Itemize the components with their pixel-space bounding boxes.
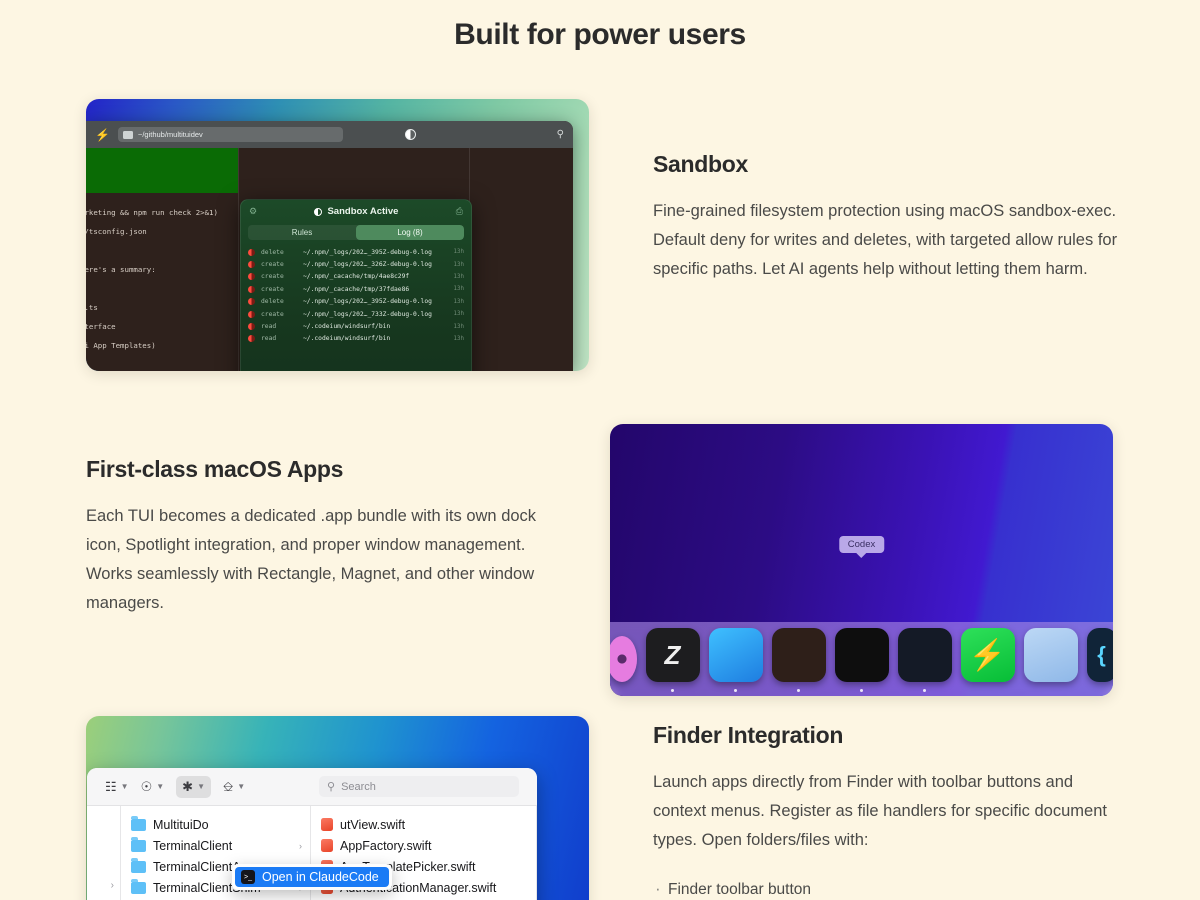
running-indicator-dot <box>797 689 800 692</box>
log-action: read <box>261 335 303 342</box>
folder-icon <box>123 131 133 139</box>
log-time: 13h <box>454 249 464 255</box>
finder-folder-row[interactable]: TerminalClient› <box>121 835 310 856</box>
file-label: AppFactory.swift <box>340 839 431 853</box>
dock-icon-row: Z⚡{ <box>610 620 1113 682</box>
access-denied-icon <box>248 273 255 280</box>
tab-log[interactable]: Log (8) <box>356 225 464 240</box>
context-menu: >_ Open in ClaudeCode <box>232 864 392 890</box>
search-input[interactable]: ⚲ Search <box>319 776 519 797</box>
bullet-item: Finder toolbar button <box>653 877 1123 900</box>
access-denied-icon <box>248 323 255 330</box>
swift-file-icon <box>321 839 333 852</box>
access-denied-icon <box>248 311 255 318</box>
asterisk-icon[interactable]: ✱ ▼ <box>176 776 211 798</box>
ellipsis-circle-icon[interactable]: ☉ ▼ <box>141 779 165 795</box>
finder-file-row[interactable]: AppFactory.swift <box>311 835 536 856</box>
terminal-body: arketing && npm run check 2>&1) ./tsconf… <box>86 148 573 371</box>
sandbox-title-label: Sandbox Active <box>327 206 398 217</box>
sandbox-log-row: create~/.npm/_logs/202…_733Z-debug-0.log… <box>248 308 464 320</box>
finder-file-row[interactable]: utView.swift <box>311 814 536 835</box>
terminal-window: ⚡ ~/github/multituidev ⚲ arketing && npm… <box>86 121 573 371</box>
sandbox-log-row: create~/.npm/_cacache/tmp/4ae8c29f13h <box>248 271 464 283</box>
terminal-square-icon[interactable]: ⎒ ▼ <box>223 779 245 795</box>
terminal-square-glyph: ⎒ <box>223 779 233 795</box>
search-icon: ⚲ <box>327 780 335 793</box>
bolt-icon: ⚡ <box>95 129 110 141</box>
log-action: create <box>261 286 303 293</box>
menu-item-label: Open in ClaudeCode <box>262 870 379 884</box>
finder-screenshot: ☷ ▼ ☉ ▼ ✱ ▼ ⎒ ▼ <box>86 716 589 900</box>
log-action: create <box>261 311 303 318</box>
log-path: ~/.npm/_logs/202…_733Z-debug-0.log <box>303 311 454 318</box>
file-label: utView.swift <box>340 818 405 832</box>
feature-title-macos-apps: First-class macOS Apps <box>86 456 556 483</box>
log-path: ~/.npm/_cacache/tmp/4ae8c29f <box>303 273 454 280</box>
terminal-screenshot: ⚡ ~/github/multituidev ⚲ arketing && npm… <box>86 99 589 371</box>
access-denied-icon <box>248 261 255 268</box>
contrast-icon[interactable] <box>405 129 416 140</box>
access-denied-icon <box>248 286 255 293</box>
feature-row-finder: ☷ ▼ ☉ ▼ ✱ ▼ ⎒ ▼ <box>86 716 1123 900</box>
running-indicator-dot <box>734 689 737 692</box>
chevron-down-icon: ▼ <box>121 782 129 791</box>
truck-icon[interactable] <box>1024 628 1078 682</box>
copy-icon[interactable]: ⎙ <box>456 206 463 217</box>
feature-body-finder: Launch apps directly from Finder with to… <box>653 768 1123 855</box>
feature-row-sandbox: ⚡ ~/github/multituidev ⚲ arketing && npm… <box>86 99 1123 371</box>
zed-icon[interactable]: Z <box>646 628 700 682</box>
ellipsis-glyph: ☉ <box>141 779 153 795</box>
log-action: create <box>261 261 303 268</box>
running-indicator-dot <box>671 689 674 692</box>
log-time: 13h <box>454 311 464 317</box>
finder-folder-row[interactable]: MultituiDo <box>121 814 310 835</box>
chevron-down-icon: ▼ <box>197 782 205 791</box>
terminal-highlight-block <box>86 148 238 193</box>
tab-rules[interactable]: Rules <box>248 225 356 240</box>
path-field[interactable]: ~/github/multituidev <box>118 127 343 142</box>
dock-tooltip: Codex <box>839 536 884 553</box>
feature-body-sandbox: Fine-grained filesystem protection using… <box>653 197 1123 284</box>
chevron-right-icon: › <box>299 841 302 851</box>
log-time: 13h <box>454 336 464 342</box>
log-path: ~/.codeium/windsurf/bin <box>303 335 454 342</box>
terminal-app-icon: >_ <box>241 870 255 884</box>
sandbox-popover: ⚙ Sandbox Active ⎙ Rules Log (8) delete~… <box>240 199 472 371</box>
access-denied-icon <box>248 249 255 256</box>
finder-toolbar: ☷ ▼ ☉ ▼ ✱ ▼ ⎒ ▼ <box>87 768 537 806</box>
terminal-titlebar: ⚡ ~/github/multituidev ⚲ <box>86 121 573 148</box>
asterisk-glyph: ✱ <box>182 779 193 795</box>
feature-row-macos-apps: First-class macOS Apps Each TUI becomes … <box>86 424 1113 696</box>
access-denied-icon <box>248 298 255 305</box>
terminal-output: arketing && npm run check 2>&1) ./tsconf… <box>86 203 218 355</box>
feature-body-macos-apps: Each TUI becomes a dedicated .app bundle… <box>86 502 556 618</box>
log-action: delete <box>261 249 303 256</box>
running-indicator-dot <box>860 689 863 692</box>
log-time: 13h <box>454 299 464 305</box>
sandbox-copy: Sandbox Fine-grained filesystem protecti… <box>653 99 1123 371</box>
dock-screenshot: Codex Z⚡{ <box>610 424 1113 696</box>
sandbox-log-row: read~/.codeium/windsurf/bin13h <box>248 320 464 332</box>
macos-apps-copy: First-class macOS Apps Each TUI becomes … <box>86 424 556 696</box>
sandbox-log-row: read~/.codeium/windsurf/bin13h <box>248 333 464 345</box>
sandbox-log-list: delete~/.npm/_logs/202…_395Z-debug-0.log… <box>241 246 471 345</box>
chevron-down-icon: ▼ <box>237 782 245 791</box>
search-icon[interactable]: ⚲ <box>557 129 564 140</box>
sandbox-header: ⚙ Sandbox Active ⎙ <box>241 200 471 223</box>
log-time: 13h <box>454 262 464 268</box>
finder-window: ☷ ▼ ☉ ▼ ✱ ▼ ⎒ ▼ <box>87 768 537 900</box>
sandbox-log-row: create~/.npm/_cacache/tmp/37fdae8613h <box>248 283 464 295</box>
bolt-app-icon[interactable]: ⚡ <box>961 628 1015 682</box>
running-indicator-dot <box>923 689 926 692</box>
finder-column-ancestor: › <box>87 806 121 900</box>
openai-icon[interactable] <box>835 628 889 682</box>
grid-view-icon[interactable]: ☷ ▼ <box>105 779 129 795</box>
log-time: 13h <box>454 286 464 292</box>
shovel-icon[interactable] <box>709 628 763 682</box>
folder-label: MultituiDo <box>153 818 209 832</box>
folder-icon <box>131 861 146 873</box>
log-path: ~/.npm/_logs/202…_395Z-debug-0.log <box>303 249 454 256</box>
log-action: read <box>261 323 303 330</box>
path-label: ~/github/multituidev <box>138 130 203 139</box>
access-denied-icon <box>248 335 255 342</box>
log-time: 13h <box>454 274 464 280</box>
swift-file-icon <box>321 818 333 831</box>
log-path: ~/.npm/_logs/202…_395Z-debug-0.log <box>303 298 454 305</box>
log-time: 13h <box>454 324 464 330</box>
sandbox-log-row: delete~/.npm/_logs/202…_395Z-debug-0.log… <box>248 296 464 308</box>
page-root: Built for power users ⚡ ~/github/multitu… <box>0 0 1200 900</box>
chevron-down-icon: ▼ <box>156 782 164 791</box>
code-icon[interactable]: { <box>1087 628 1114 682</box>
half-circle-icon <box>314 208 322 216</box>
sandbox-tabs: Rules Log (8) <box>248 225 464 240</box>
log-path: ~/.codeium/windsurf/bin <box>303 323 454 330</box>
sandbox-log-row: delete~/.npm/_logs/202…_395Z-debug-0.log… <box>248 246 464 258</box>
feature-title-sandbox: Sandbox <box>653 151 1123 178</box>
folder-icon <box>131 819 146 831</box>
gemini-icon[interactable] <box>898 628 952 682</box>
log-action: delete <box>261 298 303 305</box>
claude-icon[interactable] <box>772 628 826 682</box>
grid-view-glyph: ☷ <box>105 779 117 795</box>
finder-bullet-list: Finder toolbar button <box>653 877 1123 900</box>
pane-divider-left <box>238 148 239 371</box>
sandbox-title: Sandbox Active <box>263 206 450 217</box>
sandbox-log-row: create~/.npm/_logs/202…_326Z-debug-0.log… <box>248 258 464 270</box>
gear-icon[interactable]: ⚙ <box>249 206 257 217</box>
finder-copy: Finder Integration Launch apps directly … <box>653 716 1123 900</box>
folder-label: TerminalClient <box>153 839 232 853</box>
folder-icon <box>131 840 146 852</box>
log-action: create <box>261 273 303 280</box>
page-title: Built for power users <box>0 0 1200 52</box>
menu-item-open-in-claudecode[interactable]: >_ Open in ClaudeCode <box>235 867 389 887</box>
log-path: ~/.npm/_cacache/tmp/37fdae86 <box>303 286 454 293</box>
log-path: ~/.npm/_logs/202…_326Z-debug-0.log <box>303 261 454 268</box>
flower-icon[interactable] <box>610 636 637 682</box>
chevron-right-icon: › <box>111 880 114 900</box>
folder-icon <box>131 882 146 894</box>
search-placeholder: Search <box>341 781 376 793</box>
feature-title-finder: Finder Integration <box>653 722 1123 749</box>
